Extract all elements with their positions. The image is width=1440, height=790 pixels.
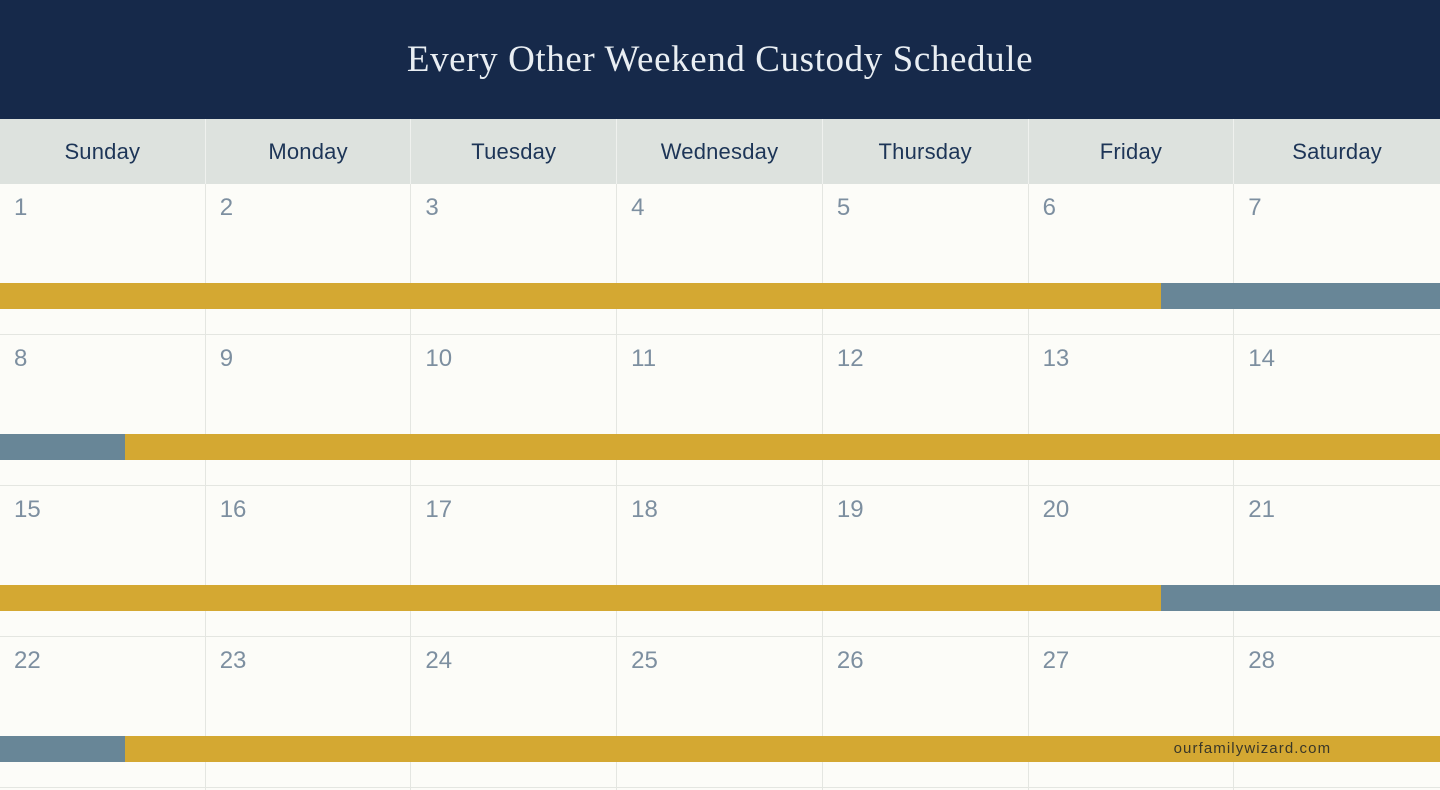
day-grid: 1516171819203:00PM21 <box>0 486 1440 637</box>
day-number: 4 <box>631 196 808 220</box>
weekday-label: Friday <box>1100 139 1162 165</box>
day-cell[interactable]: 7 <box>1234 184 1440 335</box>
calendar-weeks: 1234563:00PM783:00PM91011121314151617181… <box>0 184 1440 790</box>
day-number: 27 <box>1043 649 1220 673</box>
day-grid: 1234563:00PM7 <box>0 184 1440 335</box>
day-cell[interactable]: 28 <box>1234 637 1440 788</box>
exchange-time-label: 3:00PM <box>1165 590 1219 607</box>
day-number: 12 <box>837 347 1014 371</box>
exchange-time-label: 3:00PM <box>137 741 191 758</box>
day-number: 5 <box>837 196 1014 220</box>
week-row: 223:00PM232425262728ourfamilywizard.com <box>0 637 1440 788</box>
day-cell[interactable]: 12 <box>823 335 1029 486</box>
day-number: 8 <box>14 347 191 371</box>
weekday-header-sunday: Sunday <box>0 119 206 184</box>
day-number: 14 <box>1248 347 1426 371</box>
day-cell[interactable]: 4 <box>617 184 823 335</box>
day-number: 22 <box>14 649 191 673</box>
weekday-header-monday: Monday <box>206 119 412 184</box>
week-row: 1234563:00PM7 <box>0 184 1440 335</box>
day-number: 6 <box>1043 196 1220 220</box>
day-cell[interactable]: 25 <box>617 637 823 788</box>
day-cell[interactable]: 16 <box>206 486 412 637</box>
day-cell[interactable]: 83:00PM <box>0 335 206 486</box>
day-cell[interactable]: 24 <box>411 637 617 788</box>
custody-calendar: Every Other Weekend Custody Schedule Sun… <box>0 0 1440 790</box>
day-number: 23 <box>220 649 397 673</box>
weekday-label: Wednesday <box>661 139 779 165</box>
day-number: 3 <box>425 196 602 220</box>
weekday-label: Tuesday <box>471 139 556 165</box>
day-number: 1 <box>14 196 191 220</box>
day-number: 26 <box>837 649 1014 673</box>
day-cell[interactable]: 23 <box>206 637 412 788</box>
exchange-time-label: 3:00PM <box>1165 288 1219 305</box>
day-number: 20 <box>1043 498 1220 522</box>
day-cell[interactable]: 18 <box>617 486 823 637</box>
day-number: 7 <box>1248 196 1426 220</box>
day-number: 28 <box>1248 649 1426 673</box>
day-number: 25 <box>631 649 808 673</box>
weekday-header-friday: Friday <box>1029 119 1235 184</box>
weekday-label: Thursday <box>879 139 972 165</box>
day-cell[interactable]: 11 <box>617 335 823 486</box>
weekday-header-thursday: Thursday <box>823 119 1029 184</box>
exchange-time-label: 3:00PM <box>137 439 191 456</box>
day-cell[interactable]: 14 <box>1234 335 1440 486</box>
day-number: 18 <box>631 498 808 522</box>
day-cell[interactable]: 21 <box>1234 486 1440 637</box>
weekday-label: Sunday <box>64 139 140 165</box>
weekday-header-saturday: Saturday <box>1234 119 1440 184</box>
weekday-header-wednesday: Wednesday <box>617 119 823 184</box>
day-cell[interactable]: 13 <box>1029 335 1235 486</box>
week-row: 83:00PM91011121314 <box>0 335 1440 486</box>
day-cell[interactable]: 10 <box>411 335 617 486</box>
day-cell[interactable]: 9 <box>206 335 412 486</box>
day-grid: 223:00PM232425262728 <box>0 637 1440 788</box>
weekday-label: Saturday <box>1292 139 1382 165</box>
day-cell[interactable]: 27 <box>1029 637 1235 788</box>
day-number: 9 <box>220 347 397 371</box>
day-number: 16 <box>220 498 397 522</box>
weekday-label: Monday <box>268 139 347 165</box>
day-cell[interactable]: 2 <box>206 184 412 335</box>
day-number: 17 <box>425 498 602 522</box>
weekday-header-tuesday: Tuesday <box>411 119 617 184</box>
day-number: 15 <box>14 498 191 522</box>
day-cell[interactable]: 15 <box>0 486 206 637</box>
day-cell[interactable]: 63:00PM <box>1029 184 1235 335</box>
day-number: 2 <box>220 196 397 220</box>
page-title: Every Other Weekend Custody Schedule <box>407 38 1033 81</box>
day-cell[interactable]: 5 <box>823 184 1029 335</box>
day-cell[interactable]: 19 <box>823 486 1029 637</box>
day-cell[interactable]: 26 <box>823 637 1029 788</box>
day-cell[interactable]: 3 <box>411 184 617 335</box>
day-number: 13 <box>1043 347 1220 371</box>
day-number: 19 <box>837 498 1014 522</box>
day-grid: 83:00PM91011121314 <box>0 335 1440 486</box>
day-cell[interactable]: 17 <box>411 486 617 637</box>
day-number: 10 <box>425 347 602 371</box>
calendar-title-banner: Every Other Weekend Custody Schedule <box>0 0 1440 119</box>
day-number: 21 <box>1248 498 1426 522</box>
day-cell[interactable]: 203:00PM <box>1029 486 1235 637</box>
day-number: 11 <box>631 347 808 371</box>
day-number: 24 <box>425 649 602 673</box>
day-cell[interactable]: 223:00PM <box>0 637 206 788</box>
week-row: 1516171819203:00PM21 <box>0 486 1440 637</box>
weekday-header-row: SundayMondayTuesdayWednesdayThursdayFrid… <box>0 119 1440 184</box>
day-cell[interactable]: 1 <box>0 184 206 335</box>
